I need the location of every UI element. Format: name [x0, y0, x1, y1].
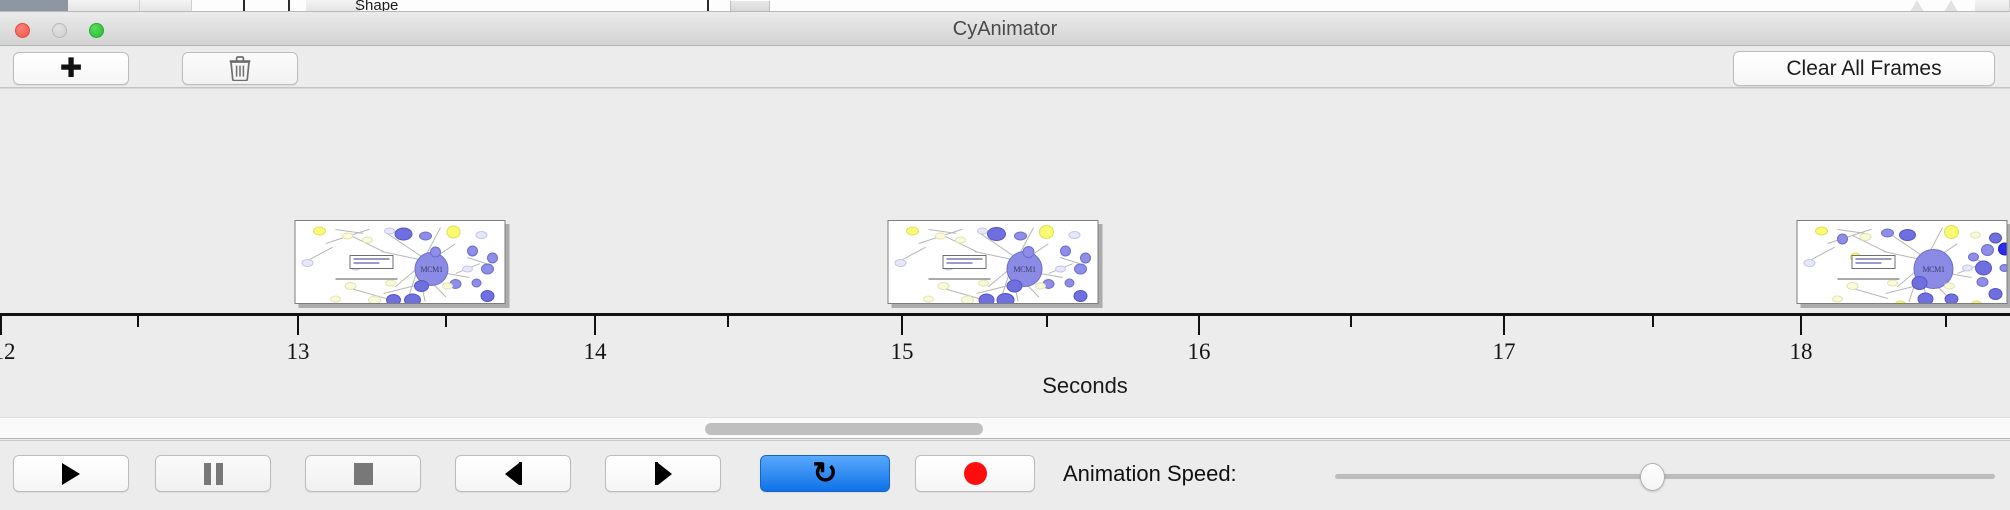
background-sidebar	[0, 0, 68, 12]
skip-backward-icon	[505, 462, 522, 485]
stop-button[interactable]	[305, 455, 421, 492]
record-icon	[964, 462, 987, 485]
node-callout	[1852, 255, 1896, 269]
background-cell	[140, 0, 192, 12]
playback-control-bar: ↻ Animation Speed:	[0, 440, 2010, 510]
axis-tick-label: 16	[1188, 339, 1211, 365]
timeline-frame-thumbnail[interactable]: MCM1	[888, 220, 1099, 304]
axis-major-tick	[901, 316, 903, 335]
hub-node-label: MCM1	[420, 265, 442, 274]
loop-button[interactable]: ↻	[760, 455, 890, 492]
previous-frame-button[interactable]	[455, 455, 571, 492]
background-tick	[288, 0, 290, 12]
background-blob	[730, 1, 770, 12]
axis-minor-tick	[1945, 316, 1947, 327]
timeline-axis-line	[0, 313, 2010, 316]
axis-minor-tick	[1350, 316, 1352, 327]
slider-thumb[interactable]	[1640, 463, 1665, 491]
background-triangle	[1944, 0, 1958, 12]
cyanimator-window: Shape CyAnimator ✚ Clear All Frames	[0, 0, 2010, 510]
axis-major-tick	[1198, 316, 1200, 335]
timeline-frame-thumbnail[interactable]: MCM1	[1797, 220, 2008, 304]
scrollbar-thumb[interactable]	[705, 423, 983, 435]
background-cell	[1975, 0, 2010, 12]
axis-minor-tick	[1046, 316, 1048, 327]
axis-minor-tick	[445, 316, 447, 327]
next-frame-button[interactable]	[605, 455, 721, 492]
axis-major-tick	[1503, 316, 1505, 335]
axis-tick-label: 18	[1790, 339, 1813, 365]
window-title: CyAnimator	[0, 12, 2010, 46]
animation-speed-label: Animation Speed:	[1063, 455, 1237, 492]
node-callout	[943, 255, 987, 269]
background-triangle	[1910, 0, 1924, 12]
trash-icon	[229, 56, 251, 81]
plus-icon: ✚	[60, 55, 83, 82]
pause-button[interactable]	[155, 455, 271, 492]
background-cell	[306, 0, 360, 12]
timeline-horizontal-scrollbar[interactable]	[0, 417, 2010, 439]
network-thumbnail: MCM1	[889, 221, 1098, 303]
axis-minor-tick	[1652, 316, 1654, 327]
background-tick	[243, 0, 245, 12]
clear-all-frames-label: Clear All Frames	[1786, 57, 1941, 81]
toolbar: ✚ Clear All Frames	[0, 46, 2010, 88]
pause-icon	[204, 463, 223, 485]
node-callout	[350, 255, 394, 269]
axis-minor-tick	[137, 316, 139, 327]
axis-major-tick	[594, 316, 596, 335]
clear-all-frames-button[interactable]: Clear All Frames	[1733, 51, 1995, 86]
hub-node-label: MCM1	[1922, 265, 1944, 274]
axis-tick-label: 12	[0, 339, 16, 365]
titlebar[interactable]: CyAnimator	[0, 12, 2010, 46]
background-tick	[707, 0, 709, 12]
record-button[interactable]	[915, 455, 1035, 492]
skip-forward-icon	[655, 462, 672, 485]
thumbnail-caption	[336, 278, 398, 280]
timeline-panel[interactable]: MCM1	[0, 88, 2010, 408]
axis-tick-label: 15	[891, 339, 914, 365]
axis-tick-label: 13	[287, 339, 310, 365]
background-cell	[68, 0, 140, 12]
axis-tick-label: 14	[584, 339, 607, 365]
axis-major-tick	[1800, 316, 1802, 335]
background-window-strip: Shape	[0, 0, 2010, 12]
axis-title-text: Seconds	[882, 373, 1128, 398]
play-icon	[62, 463, 80, 485]
thumbnail-caption	[1838, 278, 1900, 280]
network-thumbnail: MCM1	[1798, 221, 2007, 303]
slider-track[interactable]	[1335, 474, 1995, 479]
add-frame-button[interactable]: ✚	[13, 52, 129, 85]
thumbnail-caption	[929, 278, 991, 280]
axis-major-tick	[297, 316, 299, 335]
loop-icon: ↻	[812, 459, 837, 489]
animation-speed-slider[interactable]	[1335, 472, 1995, 480]
network-thumbnail: MCM1	[296, 221, 505, 303]
axis-title: Seconds	[0, 373, 2010, 399]
stop-icon	[354, 463, 373, 485]
background-window-label: Shape	[355, 0, 398, 12]
hub-node-label: MCM1	[1013, 265, 1035, 274]
delete-frame-button[interactable]	[182, 52, 298, 85]
timeline-frame-thumbnail[interactable]: MCM1	[295, 220, 506, 304]
axis-major-tick	[0, 316, 2, 335]
play-button[interactable]	[13, 455, 129, 492]
axis-tick-label: 17	[1493, 339, 1516, 365]
axis-minor-tick	[727, 316, 729, 327]
